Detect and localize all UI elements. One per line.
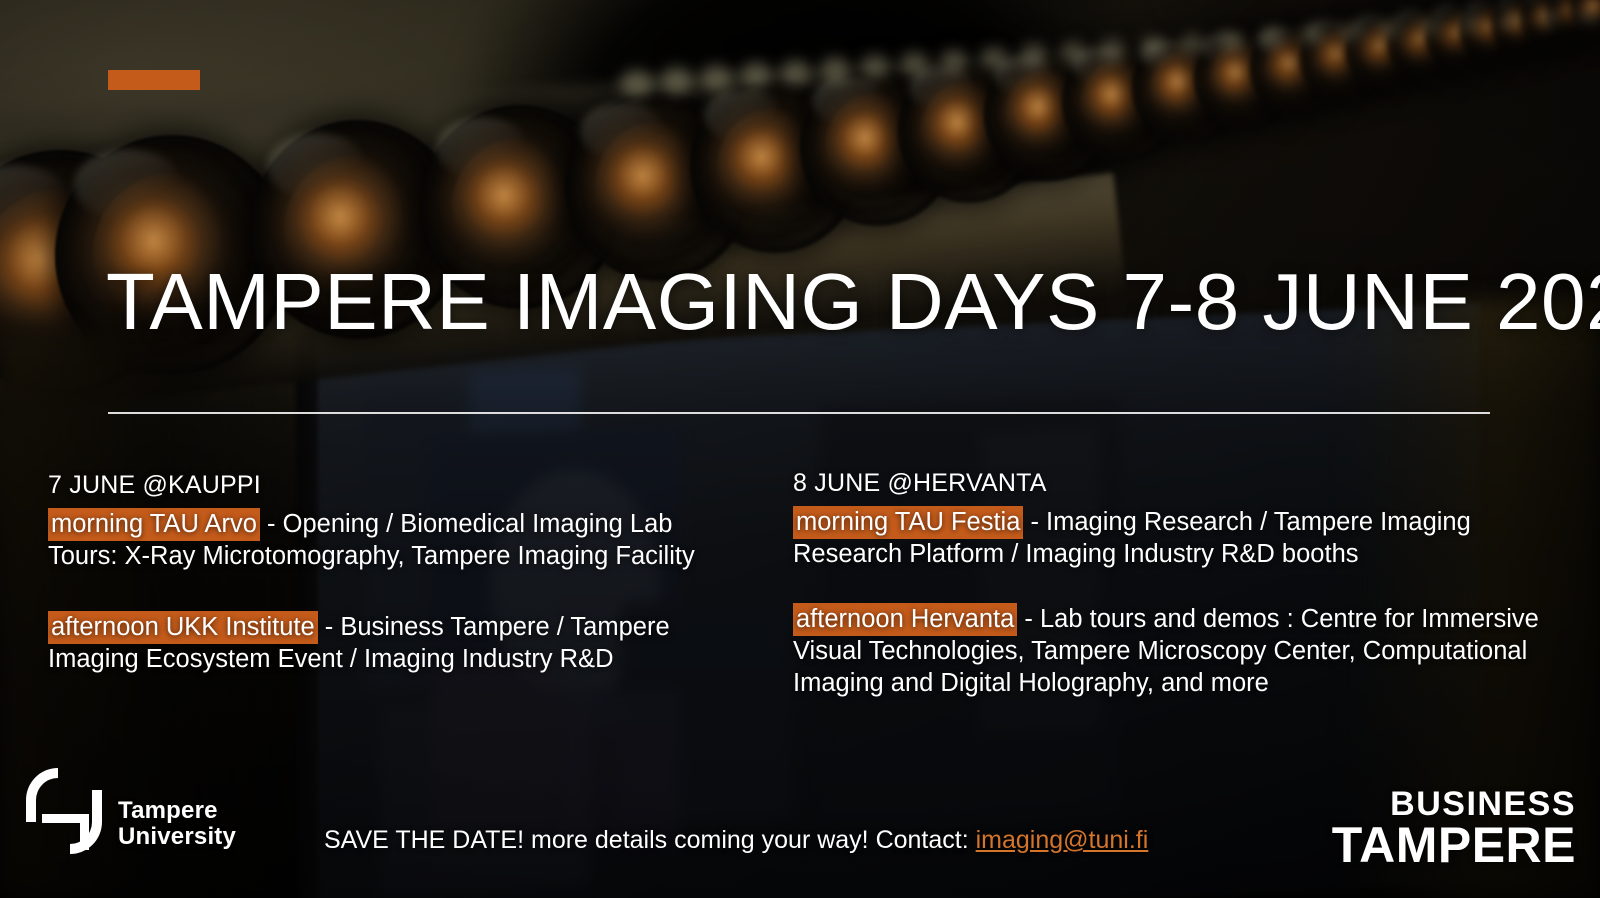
bt-wordmark-line1: BUSINESS — [1332, 789, 1576, 820]
page-title: TAMPERE IMAGING DAYS 7-8 JUNE 2022 — [106, 262, 1600, 342]
tu-monogram-icon — [18, 760, 110, 856]
save-the-date-note: SAVE THE DATE! more details coming your … — [324, 826, 1148, 855]
schedule-item: afternoon Hervanta - Lab tours and demos… — [793, 603, 1553, 700]
tu-wordmark-line1: Tampere — [118, 798, 236, 824]
schedule-item: afternoon UKK Institute - Business Tampe… — [48, 611, 748, 676]
contact-email-link[interactable]: imaging@tuni.fi — [976, 826, 1149, 854]
schedule-column-right: 8 JUNE @HERVANTA morning TAU Festia - Im… — [793, 468, 1553, 700]
session-highlight: morning TAU Festia — [793, 506, 1023, 539]
tampere-university-logo: Tampere University — [18, 760, 238, 865]
day-heading-hervanta: 8 JUNE @HERVANTA — [793, 468, 1553, 500]
orange-accent-bar — [108, 70, 200, 90]
session-highlight: afternoon Hervanta — [793, 603, 1017, 636]
horizontal-divider — [108, 412, 1490, 414]
bt-wordmark-line2: TAMPERE — [1332, 822, 1576, 868]
session-highlight: afternoon UKK Institute — [48, 611, 318, 644]
session-highlight: morning TAU Arvo — [48, 508, 260, 541]
schedule-column-left: 7 JUNE @KAUPPI morning TAU Arvo - Openin… — [48, 470, 748, 675]
save-the-date-text: SAVE THE DATE! more details coming your … — [324, 826, 976, 854]
tu-wordmark-line2: University — [118, 824, 236, 850]
day-heading-kauppi: 7 JUNE @KAUPPI — [48, 470, 748, 502]
schedule-item: morning TAU Festia - Imaging Research / … — [793, 506, 1553, 571]
schedule-item: morning TAU Arvo - Opening / Biomedical … — [48, 508, 748, 573]
business-tampere-logo: BUSINESS TAMPERE — [1332, 789, 1576, 868]
slide-content: TAMPERE IMAGING DAYS 7-8 JUNE 2022 7 JUN… — [0, 0, 1600, 898]
tampere-university-wordmark: Tampere University — [118, 798, 236, 850]
presentation-slide: TAMPERE IMAGING DAYS 7-8 JUNE 2022 7 JUN… — [0, 0, 1600, 898]
